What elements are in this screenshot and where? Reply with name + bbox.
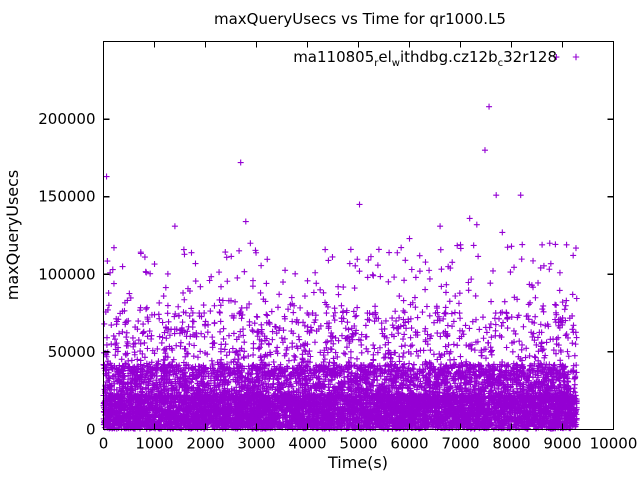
- scatter-plot: maxQueryUsecs vs Time for qr1000.L5 0100…: [0, 0, 640, 480]
- gnuplot-chart-canvas: maxQueryUsecs vs Time for qr1000.L5 0100…: [0, 0, 640, 480]
- page-title: maxQueryUsecs vs Time for qr1000.L5: [214, 10, 506, 28]
